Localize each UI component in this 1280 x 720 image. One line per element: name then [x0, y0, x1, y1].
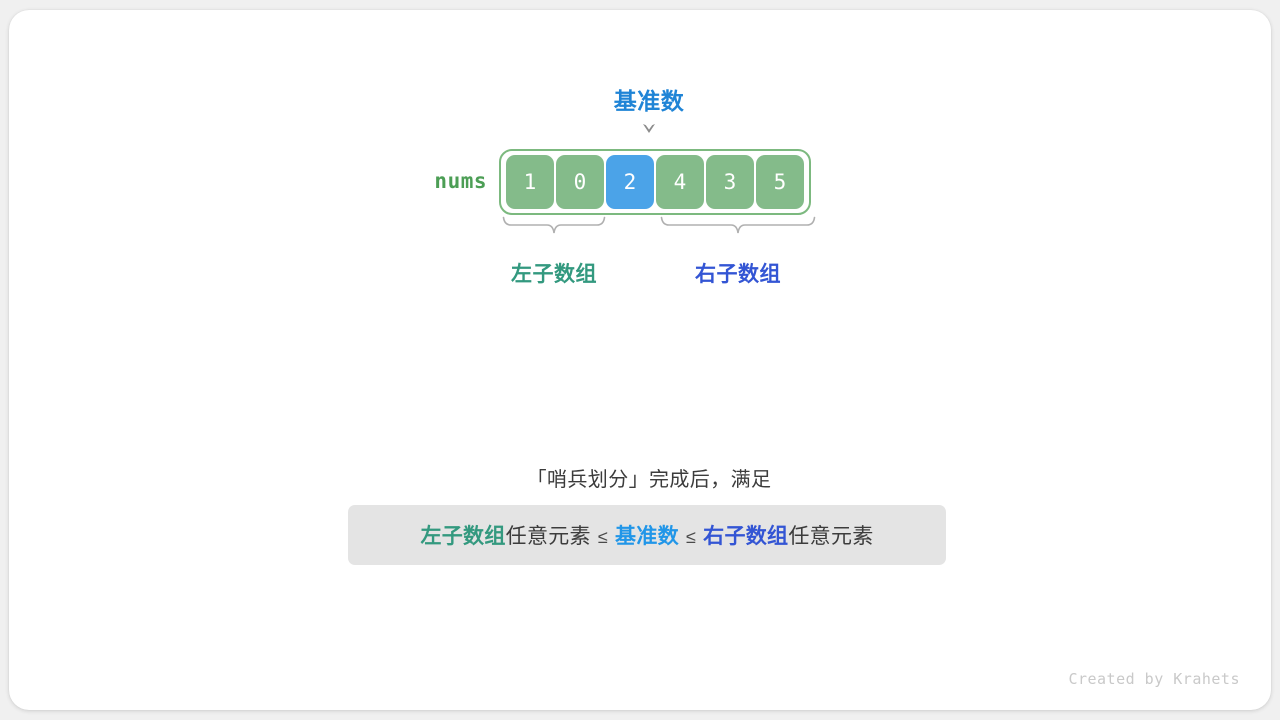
formula-left-keyword: 左子数组 [420, 525, 505, 548]
formula-left-rest: 任意元素 [506, 525, 591, 548]
array-cell[interactable]: 0 [556, 155, 604, 209]
brace-layer [9, 216, 1271, 242]
credit-text: Created by Krahets [1068, 670, 1240, 688]
formula-operator-2: ≤ [679, 527, 703, 547]
formula-pivot-keyword: 基准数 [615, 525, 679, 548]
caption-text: 「哨兵划分」完成后，满足 [9, 463, 1271, 492]
left-subarray-label: 左子数组 [502, 258, 606, 288]
right-subarray-brace-icon [660, 216, 816, 238]
array-name-label: nums [407, 169, 487, 193]
chevron-down-icon [9, 118, 1271, 138]
array-cell[interactable]: 1 [506, 155, 554, 209]
array-row: nums 1 0 2 4 3 5 [9, 147, 1271, 221]
subarray-labels: 左子数组 右子数组 [9, 258, 1271, 292]
left-subarray-brace-icon [502, 216, 606, 238]
figure-card: 基准数 nums 1 0 2 4 3 5 [9, 10, 1271, 710]
formula-operator-1: ≤ [591, 527, 615, 547]
formula-right-rest: 任意元素 [788, 525, 873, 548]
array-cell[interactable]: 4 [656, 155, 704, 209]
pivot-title: 基准数 [9, 82, 1271, 116]
formula-right-keyword: 右子数组 [703, 525, 788, 548]
right-subarray-label: 右子数组 [660, 258, 816, 288]
array-container: 1 0 2 4 3 5 [499, 149, 811, 215]
array-cell[interactable]: 5 [756, 155, 804, 209]
array-cell-pivot[interactable]: 2 [606, 155, 654, 209]
page-background: 基准数 nums 1 0 2 4 3 5 [0, 0, 1280, 720]
formula-text: 左子数组任意元素≤基准数≤右子数组任意元素 [420, 520, 873, 550]
array-cell[interactable]: 3 [706, 155, 754, 209]
formula-box: 左子数组任意元素≤基准数≤右子数组任意元素 [348, 505, 946, 565]
